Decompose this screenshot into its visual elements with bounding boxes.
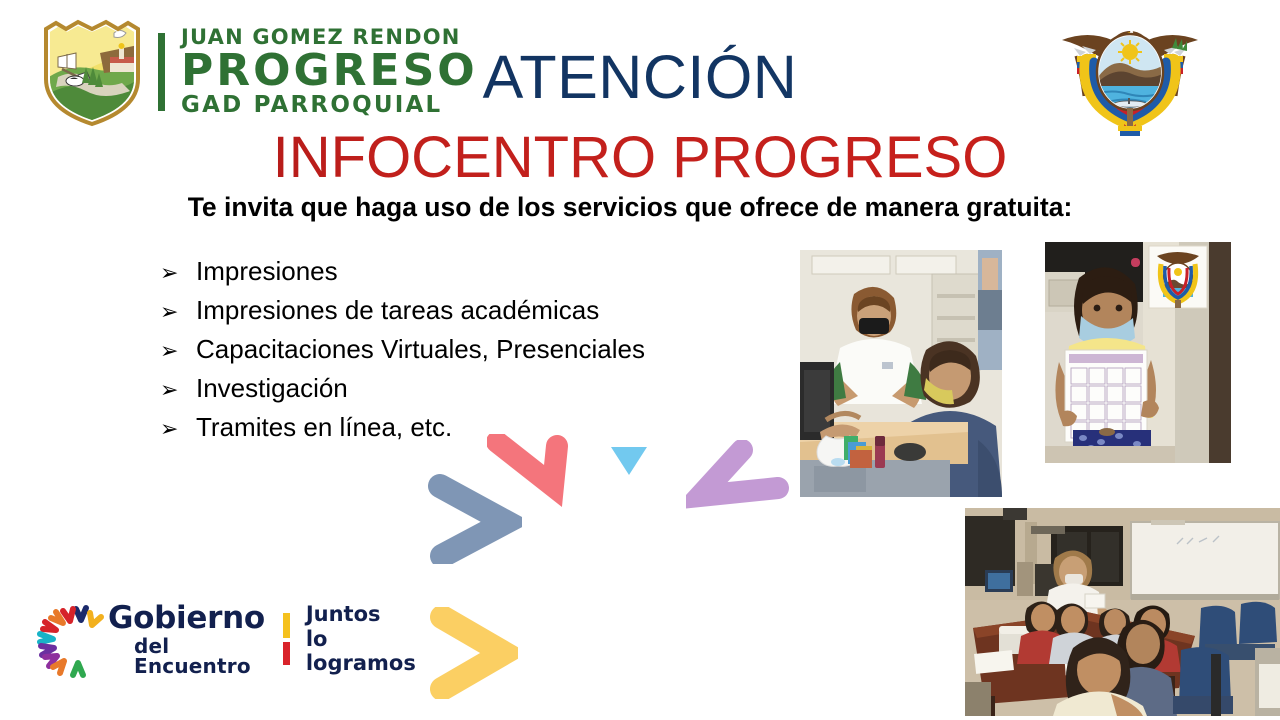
- list-item: ➢ Impresiones: [160, 258, 800, 284]
- list-item-label: Investigación: [196, 375, 800, 401]
- photo-training: [965, 508, 1280, 716]
- arrow-bullet-icon: ➢: [160, 262, 196, 284]
- gobierno-del-encuentro-logo: Gobierno del Encuentro Juntos lo logramo…: [32, 596, 404, 682]
- chevron-cyan-icon: [606, 441, 652, 485]
- title-atencion: ATENCIÓN: [0, 42, 1280, 112]
- gobierno-main-label: Gobierno: [108, 603, 265, 634]
- gobierno-sub-label: del Encuentro: [134, 636, 265, 676]
- subtitle-invitation: Te invita que haga uso de los servicios …: [150, 193, 1110, 223]
- arrow-bullet-icon: ➢: [160, 340, 196, 362]
- chevron-yellow-icon: [430, 607, 518, 699]
- arrow-bullet-icon: ➢: [160, 418, 196, 440]
- tagline-line1: Juntos: [306, 602, 416, 627]
- list-item: ➢ Impresiones de tareas académicas: [160, 297, 800, 323]
- gobierno-burst-icon: [32, 599, 112, 679]
- title-infocentro: INFOCENTRO PROGRESO: [0, 124, 1280, 191]
- arrow-bullet-icon: ➢: [160, 379, 196, 401]
- list-item-label: Impresiones: [196, 258, 800, 284]
- list-item-label: Impresiones de tareas académicas: [196, 297, 800, 323]
- chevron-red-icon: [487, 434, 571, 509]
- photo-student: [1045, 242, 1231, 463]
- list-item: ➢ Tramites en línea, etc.: [160, 414, 800, 440]
- gobierno-tagline: Juntos lo logramos: [306, 602, 416, 676]
- list-item: ➢ Capacitaciones Virtuales, Presenciales: [160, 336, 800, 362]
- list-item-label: Capacitaciones Virtuales, Presenciales: [196, 336, 800, 362]
- list-item: ➢ Investigación: [160, 375, 800, 401]
- chevron-purple-icon: [686, 440, 790, 522]
- gobierno-wordmark: Gobierno del Encuentro: [108, 603, 265, 676]
- arrow-bullet-icon: ➢: [160, 301, 196, 323]
- slide-canvas: JUAN GOMEZ RENDON PROGRESO GAD PARROQUIA…: [0, 0, 1280, 720]
- gobierno-divider-bar: [283, 613, 290, 665]
- tagline-line2: lo logramos: [306, 627, 416, 677]
- photo-service: [800, 250, 1002, 497]
- services-list: ➢ Impresiones ➢ Impresiones de tareas ac…: [160, 258, 800, 453]
